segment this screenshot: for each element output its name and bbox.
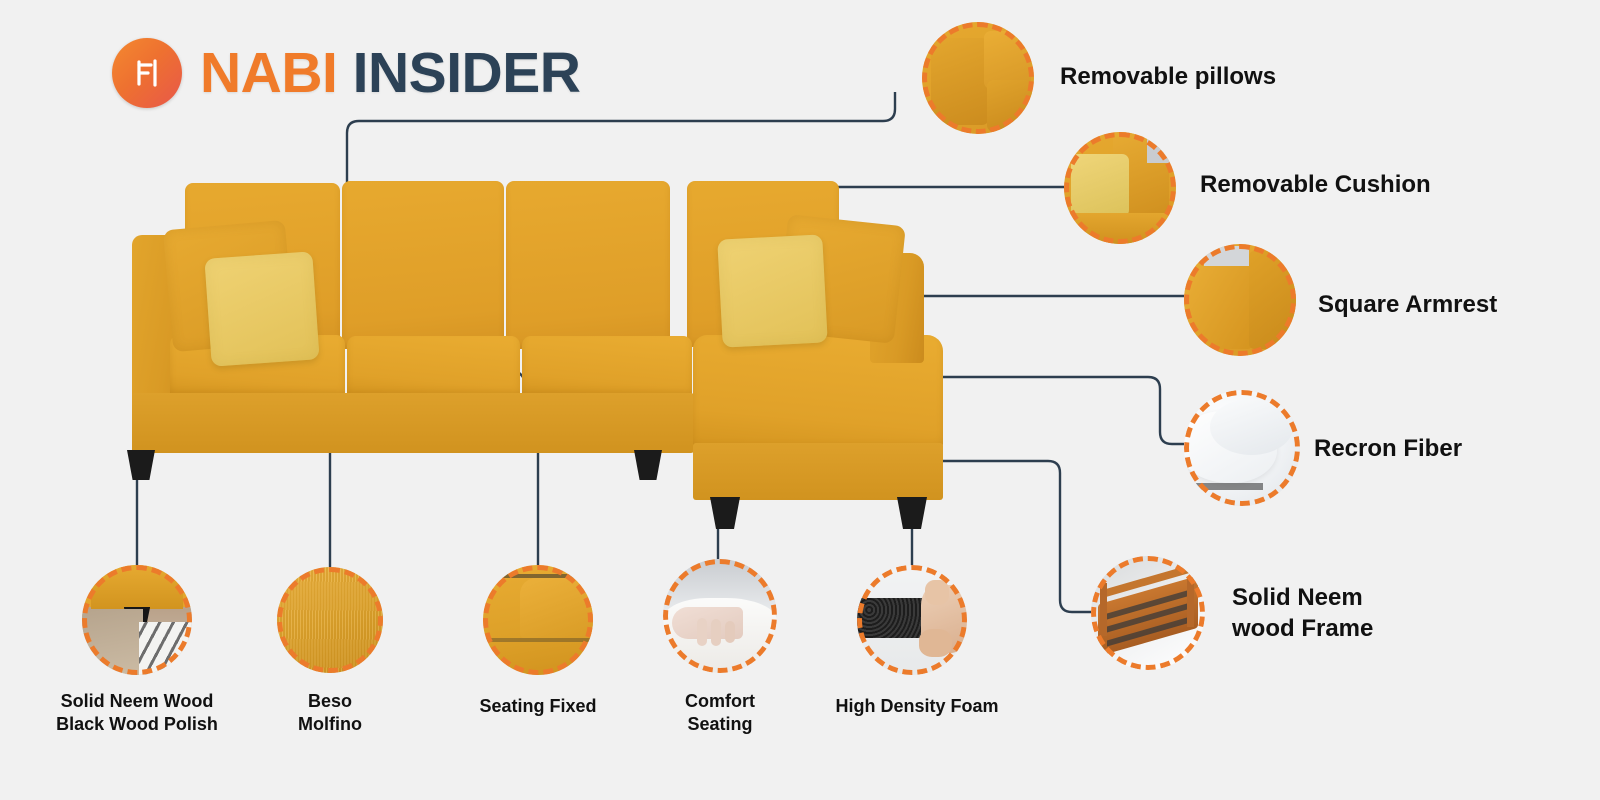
cushion-closeup-icon [1064,132,1176,244]
seat-cushion-2 [347,336,520,397]
label-recron-fiber: Recron Fiber [1314,434,1462,465]
fabric-swatch-icon [277,567,383,673]
left-accent-pillow [204,251,319,366]
page-title: NABI INSIDER [200,45,580,102]
label-beso-molfino: Beso Molfino [240,690,420,736]
label-removable-cushion: Removable Cushion [1200,170,1431,201]
sofa-leg-front-mid [634,450,662,480]
callout-recron-fiber[interactable] [1184,390,1300,506]
callout-removable-pillows[interactable] [922,22,1034,134]
seat-cushion-3 [522,336,692,397]
fiber-closeup-icon [1184,390,1300,506]
hand-pressing-foam-icon [663,559,777,673]
foam-block-hand-icon [857,565,967,675]
callout-square-armrest[interactable] [1184,244,1296,356]
callout-high-density-foam[interactable] [857,565,967,675]
seat-joint-icon [483,565,593,675]
sofa-leg-floor-icon [82,565,192,675]
callout-removable-cushion[interactable] [1064,132,1176,244]
infographic-canvas: NABI INSIDER [0,0,1600,800]
pillow-closeup-icon [922,22,1034,134]
chaise-base [693,443,943,500]
callout-wood-frame[interactable] [1091,556,1205,670]
label-wood-frame: Solid Neem wood Frame [1232,583,1373,644]
label-removable-pillows: Removable pillows [1060,62,1276,93]
nabi-chair-logo-icon [112,38,182,108]
wood-frame-icon [1091,556,1205,670]
chaise-accent-pillow [717,234,828,347]
back-cushion-2 [342,181,504,349]
label-seating-fixed: Seating Fixed [448,695,628,718]
sectional-sofa-illustration [110,175,960,510]
brand-header: NABI INSIDER [112,38,580,108]
label-neem-wood-polish: Solid Neem Wood Black Wood Polish [27,690,247,736]
callout-seating-fixed[interactable] [483,565,593,675]
label-square-armrest: Square Armrest [1318,290,1497,321]
callout-comfort-seating[interactable] [663,559,777,673]
sofa-leg-front-left [127,450,155,480]
label-comfort-seating: Comfort Seating [635,690,805,736]
back-cushion-3 [506,181,670,349]
brand-title-primary: NABI [200,41,337,105]
callout-neem-wood-polish[interactable] [82,565,192,675]
label-high-density-foam: High Density Foam [822,695,1012,718]
sofa-base-long [132,393,694,453]
brand-title-secondary: INSIDER [353,41,581,105]
callout-beso-molfino[interactable] [277,567,383,673]
armrest-closeup-icon [1184,244,1296,356]
